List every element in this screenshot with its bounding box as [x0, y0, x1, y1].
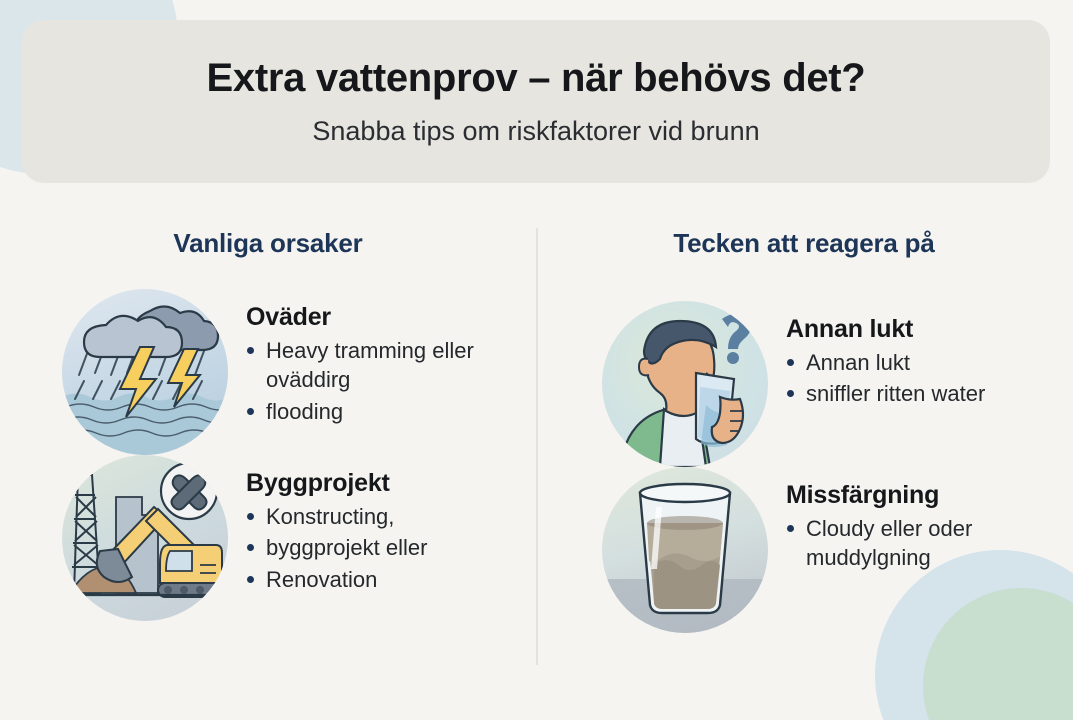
murky-glass-icon — [602, 467, 768, 633]
item-title-byggprojekt: Byggprojekt — [246, 469, 427, 498]
list-item: Konstructing, — [246, 502, 427, 531]
list-item: Cloudy eller oder muddylgning — [786, 514, 1001, 573]
item-text-missfargning: Missfärgning Cloudy eller oder muddylgni… — [786, 467, 1001, 573]
column-heading-common-causes: Vanliga orsaker — [0, 228, 536, 259]
column-divider — [536, 228, 538, 665]
list-item: sniffler ritten water — [786, 379, 985, 408]
construction-icon — [62, 455, 228, 621]
header-card: Extra vattenprov – när behövs det? Snabb… — [22, 20, 1050, 183]
page-subtitle: Snabba tips om riskfaktorer vid brunn — [312, 116, 759, 147]
item-title-annan-lukt: Annan lukt — [786, 315, 985, 344]
item-text-ovader: Oväder Heavy tramming eller oväddirg flo… — [246, 289, 496, 426]
item-ovader: Oväder Heavy tramming eller oväddirg flo… — [0, 289, 536, 455]
bullet-list-ovader: Heavy tramming eller oväddirg flooding — [246, 336, 496, 426]
list-item: Renovation — [246, 565, 427, 594]
item-title-missfargning: Missfärgning — [786, 481, 1001, 510]
column-common-causes: Vanliga orsaker — [0, 210, 536, 680]
bullet-list-byggprojekt: Konstructing, byggprojekt eller Renovati… — [246, 502, 427, 594]
person-smelling-water-icon — [602, 301, 768, 467]
column-warning-signs: Tecken att reagera på — [536, 210, 1072, 680]
list-item: Annan lukt — [786, 348, 985, 377]
item-annan-lukt: Annan lukt Annan lukt sniffler ritten wa… — [536, 301, 1072, 467]
columns-container: Vanliga orsaker — [0, 210, 1073, 680]
bullet-list-annan-lukt: Annan lukt sniffler ritten water — [786, 348, 985, 409]
storm-icon — [62, 289, 228, 455]
item-byggprojekt: Byggprojekt Konstructing, byggprojekt el… — [0, 455, 536, 621]
list-item: flooding — [246, 397, 496, 426]
list-item: byggprojekt eller — [246, 533, 427, 562]
item-text-annan-lukt: Annan lukt Annan lukt sniffler ritten wa… — [786, 301, 985, 409]
list-item: Heavy tramming eller oväddirg — [246, 336, 496, 395]
item-title-ovader: Oväder — [246, 303, 496, 332]
bullet-list-missfargning: Cloudy eller oder muddylgning — [786, 514, 1001, 573]
item-missfargning: Missfärgning Cloudy eller oder muddylgni… — [536, 467, 1072, 633]
infographic-root: Extra vattenprov – när behövs det? Snabb… — [0, 0, 1073, 720]
item-text-byggprojekt: Byggprojekt Konstructing, byggprojekt el… — [246, 455, 427, 594]
page-title: Extra vattenprov – när behövs det? — [207, 56, 866, 100]
column-heading-warning-signs: Tecken att reagera på — [536, 228, 1072, 259]
